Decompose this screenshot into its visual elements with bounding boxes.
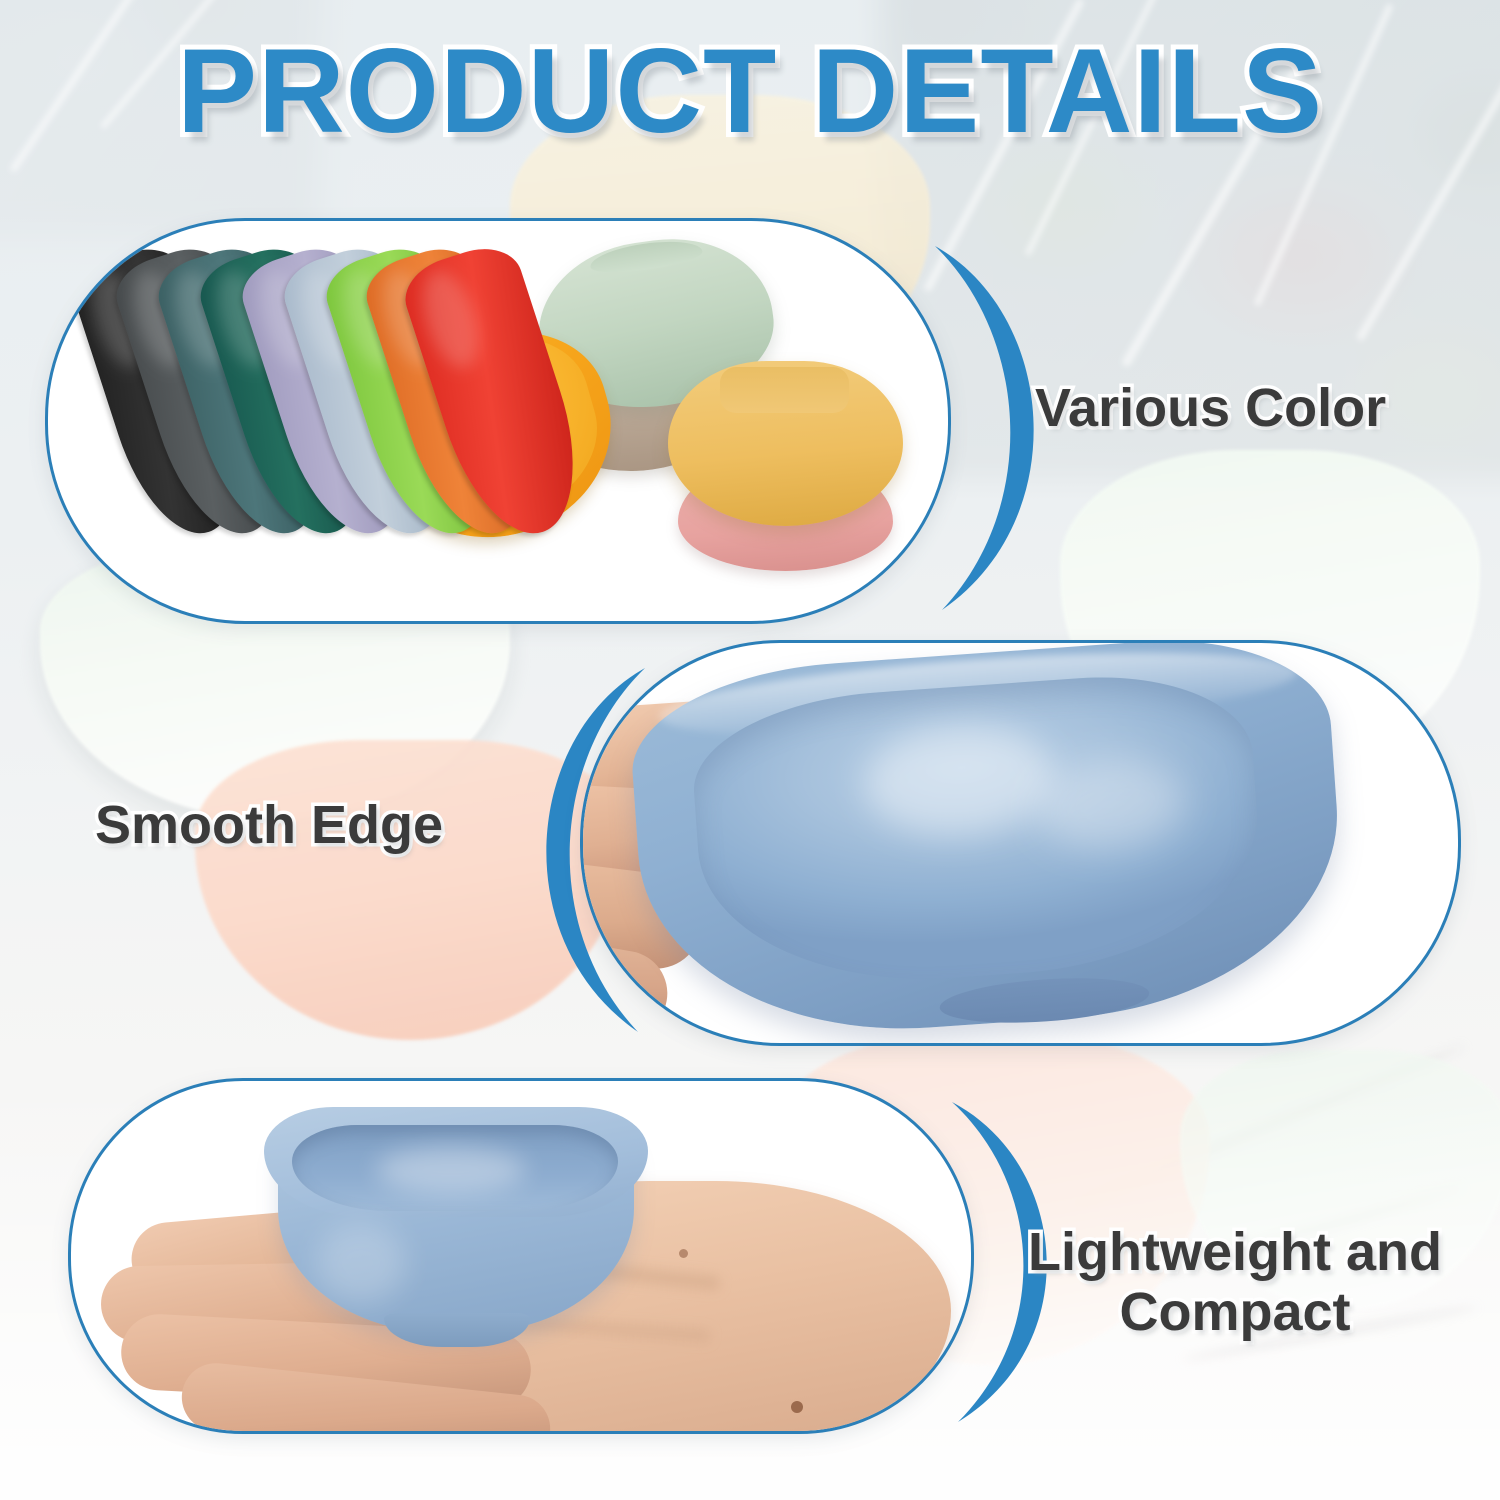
inverted-bowl-mustard-yellow — [668, 361, 903, 526]
infographic-canvas: PRODUCT DETAILS — [0, 0, 1500, 1500]
blue-bowl-large — [626, 640, 1350, 1046]
page-title: PRODUCT DETAILS — [0, 22, 1500, 160]
title-container: PRODUCT DETAILS — [0, 0, 1500, 180]
feature-label-various-color: Various Color — [1035, 378, 1386, 438]
feature-label-lightweight-compact: Lightweight and Compact — [1010, 1222, 1460, 1343]
feature-label-line-1: Lightweight and — [1010, 1222, 1460, 1282]
skin-mole — [791, 1401, 803, 1413]
bowl-specular-highlight — [316, 1223, 406, 1303]
feature-panel-lightweight-compact — [68, 1078, 974, 1434]
bowl-foot — [384, 1313, 530, 1347]
feature-panel-various-color — [45, 218, 951, 624]
skin-mole — [679, 1249, 688, 1258]
feature-panel-smooth-edge — [580, 640, 1461, 1046]
feature-label-smooth-edge: Smooth Edge — [95, 795, 443, 855]
blue-bowl-small — [256, 1103, 656, 1353]
bowl-specular-highlight — [376, 1147, 526, 1193]
bowl-color-stack — [108, 249, 628, 579]
ghost-bowl-pink-left — [195, 740, 625, 1040]
feature-label-line-2: Compact — [1010, 1282, 1460, 1342]
